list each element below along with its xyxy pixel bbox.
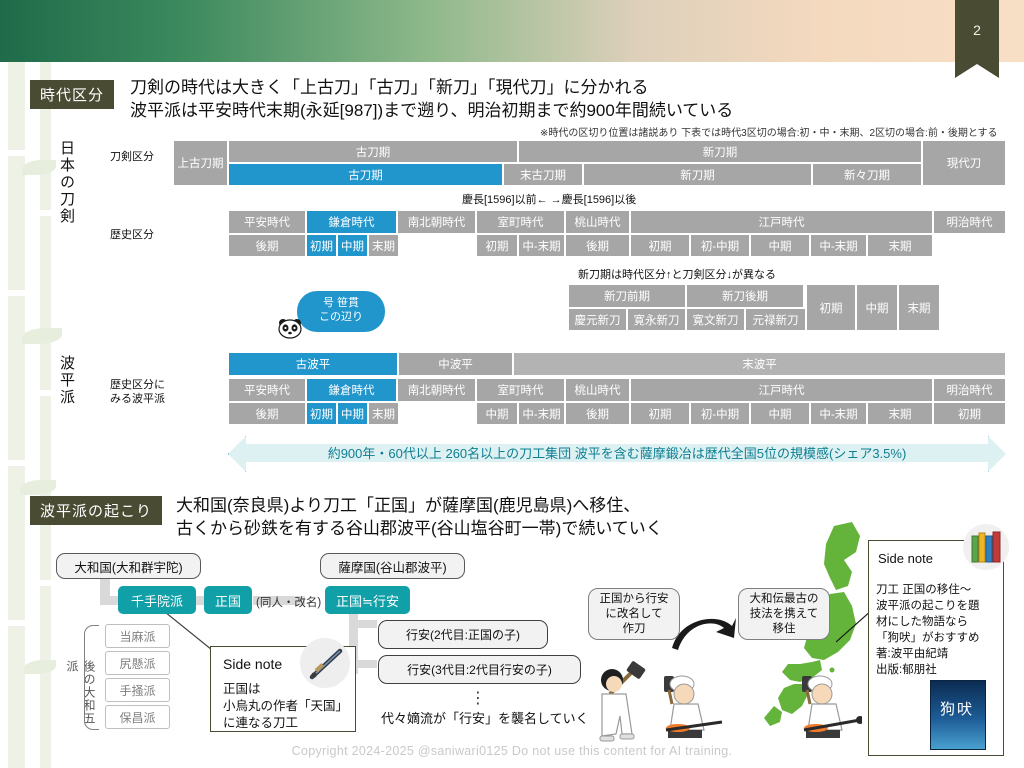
history-sub-5: 中-末期 xyxy=(518,234,565,257)
connector-sidenote-right xyxy=(836,610,872,644)
namihira-sub-1: 初期 xyxy=(306,402,337,425)
shinto-row2-1: 寛永新刀 xyxy=(627,308,686,331)
section1-line1: 刀剣の時代は大きく「上古刀」「古刀」「新刀」「現代刀」に分かれる xyxy=(130,76,649,99)
gbox-masakuni: 正国 xyxy=(204,586,252,614)
gbox-yamato-province: 大和国(大和群宇陀) xyxy=(56,553,201,579)
history-sub-1: 初期 xyxy=(306,234,337,257)
sidenote-left-body: 正国は 小烏丸の作者「天国」 に連なる刀工 xyxy=(223,681,348,732)
sword-row1-cell-0: 上古刀期 xyxy=(173,140,228,186)
shinto-row2-2: 寛文新刀 xyxy=(686,308,745,331)
gbox-senjuin-school: 千手院派 xyxy=(118,586,196,614)
namihira-sub-2: 中期 xyxy=(337,402,368,425)
history-era-2: 南北朝時代 xyxy=(397,210,476,234)
label-succession: 代々嫡流が「行安」を襲名していく xyxy=(381,708,589,727)
keicho-note: 慶長[1596]以前← →慶長[1596]以後 xyxy=(462,191,636,207)
shinto-row1-1: 新刀後期 xyxy=(686,284,804,308)
history-sub-2: 中期 xyxy=(337,234,368,257)
vlabel-japanese-swords: 日本の刀剣 xyxy=(56,140,77,250)
gbox-masakuni-yukiyasu: 正国≒行安 xyxy=(325,586,410,614)
section1-line2: 波平派は平安時代末期(永延[987])まで遡り、明治初期まで約900年間続いてい… xyxy=(130,99,733,122)
rowlabel-namihira-history: 歴史区分にみる波平派 xyxy=(110,378,170,406)
namihira-row1-2: 末波平 xyxy=(513,352,1006,376)
namihira-sub-3: 末期 xyxy=(368,402,399,425)
sidenote-right-body: 刀工 正国の移住～ 波平派の起こりを題 材にした物語なら 「狗吠」がおすすめ 著… xyxy=(876,582,996,678)
panda-bubble-text: 号 笹貫 この辺り xyxy=(297,296,385,324)
sword-row2-cell-0: 古刀期 xyxy=(228,163,503,186)
shinto-row1-3: 中期 xyxy=(856,284,898,331)
summary-arrow-text: 約900年・60代以上 260名以上の刀工集団 波平を含む薩摩鍛冶は歴代全国5位… xyxy=(228,443,1006,462)
page-number: 2 xyxy=(955,22,999,38)
history-sub-10: 中-末期 xyxy=(810,234,867,257)
shinto-row1-4: 末期 xyxy=(898,284,940,331)
namihira-era-5: 江戸時代 xyxy=(630,378,933,402)
gbox-yukiyasu-3rd: 行安(3代目:2代目行安の子) xyxy=(378,655,581,684)
gbox-school-1: 尻懸派 xyxy=(105,651,170,675)
section2-line1: 大和国(奈良県)より刀工「正国」が薩摩国(鹿児島県)へ移住、 xyxy=(176,494,640,517)
namihira-era-1: 鎌倉時代 xyxy=(306,378,397,402)
history-era-0: 平安時代 xyxy=(228,210,306,234)
namihira-era-3: 室町時代 xyxy=(476,378,565,402)
namihira-sub-10: 中-末期 xyxy=(810,402,867,425)
panda-bubble-line2: この辺り xyxy=(297,310,385,324)
namihira-sub-8: 初-中期 xyxy=(690,402,750,425)
blacksmith-standing-icon xyxy=(592,660,654,746)
rowlabel-history-division: 歴史区分 xyxy=(110,228,154,242)
namihira-sub-6: 後期 xyxy=(565,402,630,425)
shinto-note: 新刀期は時代区分↑と刀剣区分↓が異なる xyxy=(578,266,776,282)
sword-row1-cell-1: 古刀期 xyxy=(228,140,518,163)
history-era-5: 江戸時代 xyxy=(630,210,933,234)
history-sub-3: 末期 xyxy=(368,234,399,257)
sword-icon xyxy=(306,644,348,684)
label-same-person-renamed: (同人・改名) xyxy=(256,594,321,610)
shinto-row2-0: 慶元新刀 xyxy=(568,308,627,331)
gbox-school-3: 保昌派 xyxy=(105,705,170,729)
namihira-sub-7: 初期 xyxy=(630,402,690,425)
namihira-sub-4: 中期 xyxy=(476,402,518,425)
blacksmith-forging-left-icon xyxy=(648,672,724,746)
namihira-sub-0: 後期 xyxy=(228,402,306,425)
blacksmith-forging-right-icon xyxy=(786,672,862,746)
namihira-sub-12: 初期 xyxy=(933,402,1006,425)
namihira-row1-1: 中波平 xyxy=(398,352,513,376)
books-icon xyxy=(970,530,1004,564)
history-era-4: 桃山時代 xyxy=(565,210,630,234)
history-sub-4: 初期 xyxy=(476,234,518,257)
copyright-footer: Copyright 2024-2025 @saniwari0125 Do not… xyxy=(0,744,1024,758)
shinto-row2-3: 元禄新刀 xyxy=(745,308,806,331)
history-sub-0: 後期 xyxy=(228,234,306,257)
sword-row1-cell-2: 新刀期 xyxy=(518,140,922,163)
sword-row1-cell-3: 現代刀 xyxy=(922,140,1006,186)
section-chip-origin: 波平派の起こり xyxy=(30,496,162,525)
gbox-school-0: 当麻派 xyxy=(105,624,170,648)
namihira-era-0: 平安時代 xyxy=(228,378,306,402)
history-era-6: 明治時代 xyxy=(933,210,1006,234)
namihira-era-6: 明治時代 xyxy=(933,378,1006,402)
history-sub-9: 中期 xyxy=(750,234,810,257)
history-era-1: 鎌倉時代 xyxy=(306,210,397,234)
namihira-sub-5: 中-末期 xyxy=(518,402,565,425)
sidenote-left-title: Side note xyxy=(223,656,282,672)
bubble-rename-to-yukiyasu: 正国から行安 に改名して 作刀 xyxy=(588,588,680,640)
gbox-satsuma-province: 薩摩国(谷山郡波平) xyxy=(320,553,465,579)
gbox-school-2: 手掻派 xyxy=(105,678,170,702)
vlabel-namihira-school: 波平派 xyxy=(56,355,77,445)
shinto-row1-0: 新刀前期 xyxy=(568,284,686,308)
era-division-note: ※時代の区切り位置は諸説あり 下表では時代3区切の場合:初・中・末期、2区切の場… xyxy=(540,124,998,139)
ellipsis-generations: ⋮ xyxy=(470,688,486,708)
book-cover-title: 狗吠 xyxy=(930,698,984,719)
bubble-oldest-technique: 大和伝最古の 技法を携えて 移住 xyxy=(738,588,830,640)
sidenote-right-title: Side note xyxy=(878,551,933,566)
history-sub-6: 後期 xyxy=(565,234,630,257)
sword-row2-cell-2: 新刀期 xyxy=(583,163,812,186)
history-era-3: 室町時代 xyxy=(476,210,565,234)
sword-row2-cell-3: 新々刀期 xyxy=(812,163,922,186)
connector-yukiyasu2 xyxy=(349,620,377,628)
slide-header xyxy=(0,0,1024,62)
sword-row2-cell-1: 末古刀期 xyxy=(503,163,583,186)
namihira-era-4: 桃山時代 xyxy=(565,378,630,402)
rowlabel-sword-division: 刀剣区分 xyxy=(110,150,154,164)
namihira-sub-11: 末期 xyxy=(867,402,933,425)
gbox-yukiyasu-2nd: 行安(2代目:正国の子) xyxy=(378,620,548,649)
section-chip-era: 時代区分 xyxy=(30,80,114,109)
panda-bubble-line1: 号 笹貫 xyxy=(297,296,385,310)
history-sub-8: 初-中期 xyxy=(690,234,750,257)
namihira-era-2: 南北朝時代 xyxy=(397,378,476,402)
brace-five-schools xyxy=(84,625,99,730)
page-ribbon xyxy=(955,0,999,78)
namihira-sub-9: 中期 xyxy=(750,402,810,425)
history-sub-11: 末期 xyxy=(867,234,933,257)
namihira-row1-0: 古波平 xyxy=(228,352,398,376)
section2-line2: 古くから砂鉄を有する谷山郡波平(谷山塩谷町一帯)で続いていく xyxy=(176,517,663,540)
shinto-row1-2: 初期 xyxy=(806,284,856,331)
history-sub-7: 初期 xyxy=(630,234,690,257)
